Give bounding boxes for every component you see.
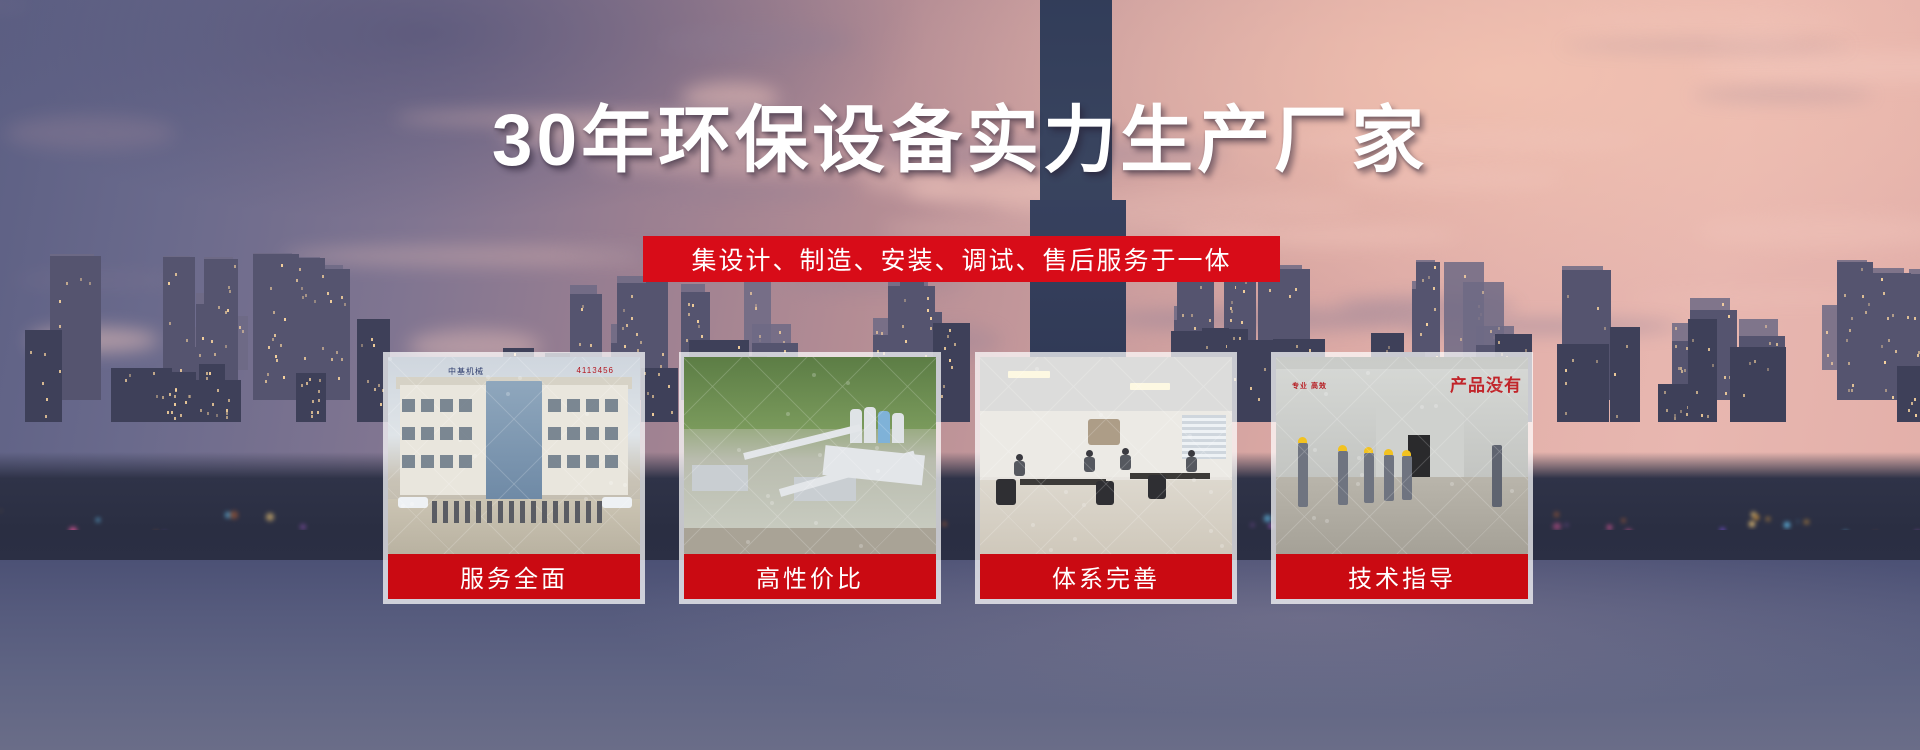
skyline-building [158,372,196,422]
building-window [905,340,907,343]
staff-member [586,501,591,523]
building-window [1206,346,1208,349]
parked-car [602,497,632,508]
card-caption-band: 服务全面 [388,554,640,599]
staff-member [553,501,558,523]
building-window [211,340,213,343]
building-window [1675,327,1677,330]
safety-helmet-icon [1338,445,1347,451]
facade-window [421,427,434,440]
building-window [212,403,214,406]
building-window [1231,310,1233,313]
building-window [304,357,306,360]
building-window [162,396,164,399]
building-window [759,335,761,338]
facade-window [459,399,472,412]
building-window [1708,348,1710,351]
shore-light [96,518,100,522]
building-window [59,300,61,303]
skyline-building [25,330,62,422]
building-window [1434,266,1436,269]
building-window [80,278,82,281]
watermark-dot [737,448,741,452]
building-window [174,403,176,406]
building-window [1434,308,1436,311]
building-window [296,279,298,282]
facade-window [440,455,453,468]
page-title: 30年环保设备实力生产厂家 [0,104,1920,177]
facade-window [605,455,618,468]
building-window [214,353,216,356]
staff-member [443,501,448,523]
worker [1338,451,1348,505]
building-window [1724,376,1726,379]
building-window [692,304,694,307]
building-window [276,359,278,362]
building-window [171,411,173,414]
facade-window [567,399,580,412]
building-window [1696,391,1698,394]
card-thumbnail-office-interior [980,357,1232,554]
building-window [270,287,272,290]
desk [1130,473,1210,479]
building-window [1684,369,1686,372]
building-window [1230,319,1232,322]
building-window [1749,362,1751,365]
building-window [1884,361,1886,364]
building-window [226,416,228,419]
shore-light [1784,522,1790,528]
card-thumbnail-factory-yard: 产品没有 专业 高效 [1276,357,1528,554]
building-window [1911,402,1913,405]
building-window [380,403,382,406]
building-window [283,376,285,379]
building-window [1674,417,1676,420]
building-window [42,382,44,385]
card-caption-text: 服务全面 [460,559,568,594]
skyline-building [1610,327,1640,422]
person-torso [1186,457,1197,472]
building-window [1680,410,1682,413]
facade-window [402,455,415,468]
building-window [167,411,169,414]
chair [996,479,1016,505]
watermark-dot [875,446,879,450]
feature-card[interactable]: 中基机械 4113456 服务全面 [383,352,645,604]
building-window [180,414,182,417]
building-window [301,384,303,387]
shore-light [1754,515,1759,520]
safety-helmet-icon [1402,450,1411,456]
building-window [1895,350,1897,353]
building-window [1707,415,1709,418]
building-window [1666,409,1668,412]
building-window [314,300,316,303]
building-window [306,382,308,385]
ceiling-light [1008,371,1050,378]
building-window [281,264,283,267]
building-window [947,335,949,338]
building-window [44,353,46,356]
facade-window [586,455,599,468]
building-window [374,388,376,391]
facade-window [459,455,472,468]
building-window [265,380,267,383]
person-head [1188,450,1195,457]
building-window [228,399,230,402]
building-window [312,400,314,403]
worker [1298,443,1308,507]
building-atrium [486,381,542,499]
building-window [239,326,241,329]
building-window [1852,384,1854,387]
building-window [1767,368,1769,371]
building-window [1572,359,1574,362]
building-window [626,324,628,327]
building-window [1420,333,1422,336]
building-window [327,292,329,295]
building-window [755,307,757,310]
building-window [1296,345,1298,348]
building-window [1892,314,1894,317]
building-window [1915,414,1917,417]
building-window [274,334,276,337]
building-window [1460,338,1462,341]
safety-helmet-icon [1364,447,1373,453]
staff-member [520,501,525,523]
building-window [1888,339,1890,342]
building-window [305,294,307,297]
building-window [954,343,956,346]
building-window [697,320,699,323]
building-window [1604,327,1606,330]
building-window [1769,342,1771,345]
person-torso [1014,461,1025,476]
building-window [1908,409,1910,412]
facade-window [459,427,472,440]
building-window [1616,415,1618,418]
skyline-building [1837,262,1873,400]
building-window [1233,337,1235,340]
person-torso [1084,457,1095,472]
skyline-building [1688,319,1717,422]
building-window [225,345,227,348]
feature-card[interactable]: 体系完善 [975,352,1237,604]
building-window [217,389,219,392]
building-window [275,355,277,358]
building-window [1692,339,1694,342]
ceiling-light [1130,383,1170,390]
building-window [581,308,583,311]
card-caption-text: 技术指导 [1348,559,1456,594]
card-thumbnail-plant-aerial [684,357,936,554]
building-window [59,370,61,373]
card-caption-text: 体系完善 [1052,559,1160,594]
building-window [331,358,333,361]
facade-window [421,399,434,412]
person-head [1016,454,1023,461]
building-window [89,282,91,285]
building-window [1712,364,1714,367]
person-head [1086,450,1093,457]
building-window [1862,295,1864,298]
building-window [1565,412,1567,415]
building-window [309,378,311,381]
building-window [206,372,208,375]
building-window [1892,396,1894,399]
building-window [1849,329,1851,332]
building-window [30,351,32,354]
building-window [1241,321,1243,324]
building-window [1388,346,1390,349]
building-window [1914,398,1916,401]
building-window [227,309,229,312]
storage-silo [878,411,890,443]
building-window [590,344,592,347]
wall-decal [1088,419,1120,445]
building-window [226,412,228,415]
building-window [1851,317,1853,320]
building-window [1881,278,1883,281]
safety-helmet-icon [1298,437,1307,443]
building-window [1675,345,1677,348]
card-caption-band: 技术指导 [1276,554,1528,599]
building-window [1776,343,1778,346]
factory-slogan-secondary: 专业 高效 [1292,381,1327,391]
supervisor [1492,445,1502,507]
building-window [904,299,906,302]
plant-shed [692,465,748,491]
building-window [1231,301,1233,304]
building-window [188,395,190,398]
building-window [1596,360,1598,363]
facade-window [421,455,434,468]
hero-banner: 30年环保设备实力生产厂家 集设计、制造、安装、调试、售后服务于一体 中基机械 … [0,0,1920,750]
facade-window [402,399,415,412]
shore-light [1804,520,1809,525]
worker [1364,453,1374,503]
building-window [1433,287,1435,290]
building-window [1464,275,1466,278]
chair [1096,481,1114,505]
building-window [944,347,946,350]
building-window [1490,330,1492,333]
facade-window [548,455,561,468]
building-window [1728,315,1730,318]
building-window [1626,345,1628,348]
building-window [280,344,282,347]
building-window [1498,341,1500,344]
building-window [1182,314,1184,317]
building-window [1243,290,1245,293]
building-window [228,286,230,289]
building-window [701,335,703,338]
building-window [1722,303,1724,306]
shore-light [1554,512,1559,517]
shore-light [1622,519,1625,522]
building-window [1881,345,1883,348]
building-window [319,379,321,382]
building-window [1827,354,1829,357]
building-window [1664,391,1666,394]
building-window [1848,389,1850,392]
office-ceiling [980,357,1232,411]
shore-light [266,513,274,521]
building-window [927,297,929,300]
building-window [1831,362,1833,365]
building-window [1765,325,1767,328]
building-window [623,309,625,312]
feature-card[interactable]: 产品没有 专业 高效 技术指导 [1271,352,1533,604]
facade-window [440,399,453,412]
building-window [361,344,363,347]
building-window [1826,331,1828,334]
building-window [207,412,209,415]
building-window [125,379,127,382]
facade-window [440,427,453,440]
facade-window [402,427,415,440]
storage-silo [864,407,876,443]
shore-light [1766,517,1770,521]
staff-member [575,501,580,523]
building-window [268,346,270,349]
staff-member [432,501,437,523]
parked-car [398,497,428,508]
building-window [1844,294,1846,297]
building-window [45,415,47,418]
building-window [1614,373,1616,376]
building-window [330,300,332,303]
worker [1402,456,1412,500]
building-window [267,373,269,376]
building-window [302,296,304,299]
building-sign-phone: 4113456 [576,366,614,375]
facade-window [605,399,618,412]
subtitle-text: 集设计、制造、安装、调试、售后服务于一体 [691,241,1231,277]
building-window [317,411,319,414]
building-window [1295,288,1297,291]
shore-light [1565,524,1567,526]
facade-window [567,427,580,440]
building-window [949,329,951,332]
building-window [229,290,231,293]
building-window [336,351,338,354]
building-window [341,358,343,361]
building-window [218,306,220,309]
safety-helmet-icon [1384,449,1393,455]
building-window [242,330,244,333]
building-window [1754,360,1756,363]
building-window [640,341,642,344]
plant-road [684,528,936,554]
shore-light [1797,520,1800,523]
building-window [1887,317,1889,320]
skyline-building [256,328,299,400]
building-sign-logo: 中基机械 [448,366,484,377]
building-window [273,311,275,314]
building-window [1269,289,1271,292]
building-window [209,372,211,375]
building-window [1567,295,1569,298]
watermark-dot [814,521,818,525]
building-window [1422,279,1424,282]
building-window [1848,362,1850,365]
card-caption-text: 高性价比 [756,559,864,594]
building-window [1865,311,1867,314]
building-window [1743,394,1745,397]
building-window [1914,317,1916,320]
building-window [301,287,303,290]
building-window [1868,303,1870,306]
staff-member [465,501,470,523]
building-window [1851,389,1853,392]
building-window [1200,286,1202,289]
building-window [738,346,740,349]
building-window [930,317,932,320]
building-window [1846,339,1848,342]
building-window [1209,319,1211,322]
staff-member [542,501,547,523]
building-window [902,325,904,328]
staff-member [454,501,459,523]
building-window [1289,295,1291,298]
building-window [180,369,182,372]
facade-window [586,399,599,412]
building-window [1191,314,1193,317]
building-window [373,344,375,347]
building-window [1428,276,1430,279]
building-window [698,325,700,328]
card-caption-band: 高性价比 [684,554,936,599]
watermark-dot [766,494,770,498]
staff-member [564,501,569,523]
shore-light [230,511,237,518]
facade-window [548,427,561,440]
building-window [344,303,346,306]
storage-silo [892,413,904,443]
feature-card-list: 中基机械 4113456 服务全面 [383,352,1541,604]
building-window [174,417,176,420]
building-window [318,390,320,393]
building-window [1681,370,1683,373]
facade-window [567,455,580,468]
staff-member [597,501,602,523]
building-window [1701,414,1703,417]
subtitle-band: 集设计、制造、安装、调试、售后服务于一体 [643,236,1280,282]
person-head [1122,448,1129,455]
factory-slogan-primary: 产品没有 [1450,371,1522,396]
building-window [185,401,187,404]
skyline-building [1557,344,1609,422]
card-caption-band: 体系完善 [980,554,1232,599]
building-window [1861,268,1863,271]
building-window [779,331,781,334]
building-window [46,398,48,401]
building-window [631,295,633,298]
feature-card[interactable]: 高性价比 [679,352,941,604]
building-window [1498,327,1500,330]
building-window [750,292,752,295]
building-window [318,399,320,402]
building-window [1482,291,1484,294]
person-torso [1120,455,1131,470]
building-window [199,354,201,357]
staff-member [531,501,536,523]
watermark-dot [770,501,774,505]
facade-window [586,427,599,440]
building-window [927,309,929,312]
staff-member [487,501,492,523]
